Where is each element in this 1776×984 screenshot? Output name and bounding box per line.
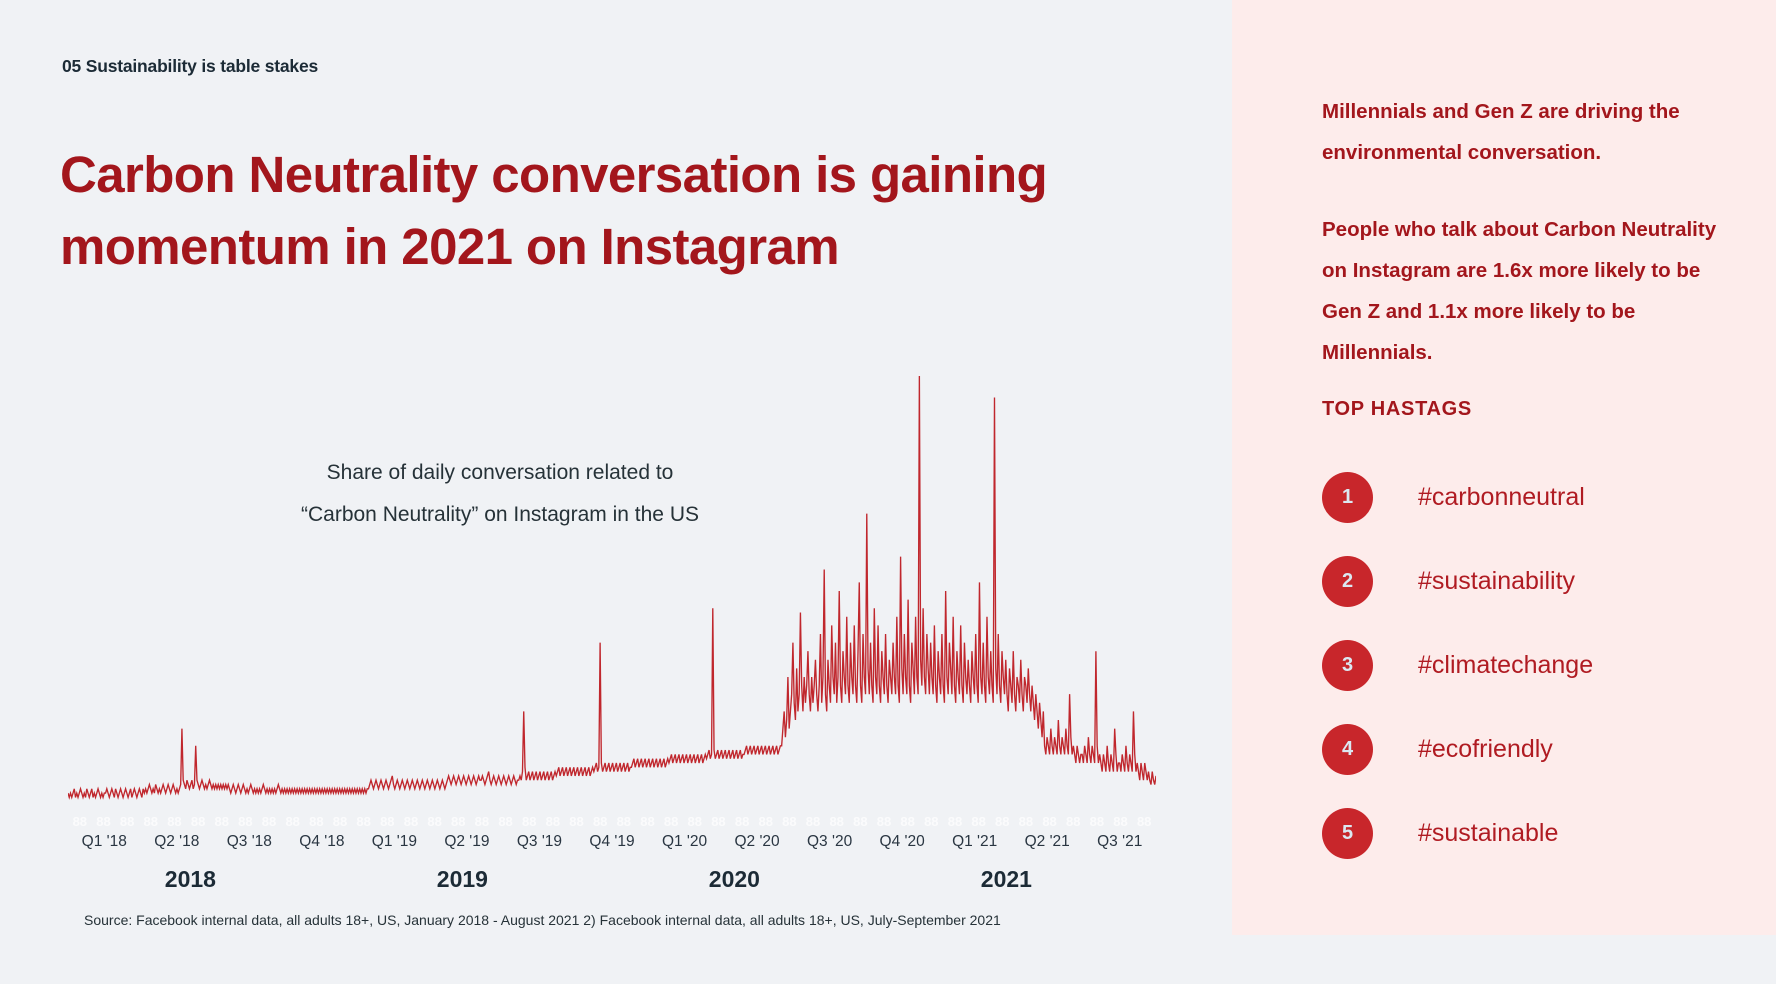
hashtag-row[interactable]: 2#sustainability (1322, 539, 1752, 623)
x-tick-label: Q3 '18 (227, 833, 272, 851)
faint-date-label: 88 (309, 814, 323, 829)
faint-date-label: 88 (829, 814, 843, 829)
x-tick-label: Q1 '18 (82, 833, 127, 851)
x-tick-label: Q3 '21 (1097, 833, 1142, 851)
rank-badge: 5 (1322, 808, 1373, 859)
faint-date-label: 88 (759, 814, 773, 829)
faint-date-label: 88 (1066, 814, 1080, 829)
faint-date-label: 88 (120, 814, 134, 829)
hashtag-label: #ecofriendly (1418, 735, 1553, 764)
faint-date-label: 88 (191, 814, 205, 829)
x-year-label: 2021 (981, 866, 1032, 893)
x-tick-label: Q2 '21 (1025, 833, 1070, 851)
faint-date-label: 88 (380, 814, 394, 829)
faint-date-label: 88 (688, 814, 702, 829)
top-hashtags-heading: TOP HASTAGS (1322, 398, 1472, 421)
hashtag-row[interactable]: 1#carbonneutral (1322, 455, 1752, 539)
faint-date-label: 88 (664, 814, 678, 829)
hashtag-label: #carbonneutral (1418, 483, 1585, 512)
hashtag-row[interactable]: 4#ecofriendly (1322, 707, 1752, 791)
x-axis-tick-labels: Q1 '18Q2 '18Q3 '18Q4 '18Q1 '19Q2 '19Q3 '… (68, 833, 1156, 857)
hashtag-row[interactable]: 5#sustainable (1322, 791, 1752, 875)
rank-badge: 2 (1322, 556, 1373, 607)
insight-paragraph-1: Millennials and Gen Z are driving the en… (1322, 91, 1732, 173)
faint-date-label: 88 (404, 814, 418, 829)
faint-date-label: 88 (782, 814, 796, 829)
faint-date-label: 88 (96, 814, 110, 829)
faint-date-labels: 8888888888888888888888888888888888888888… (68, 808, 1156, 834)
faint-date-label: 88 (427, 814, 441, 829)
chart-svg (68, 370, 1156, 810)
faint-date-label: 88 (900, 814, 914, 829)
faint-date-label: 88 (167, 814, 181, 829)
rank-badge: 1 (1322, 472, 1373, 523)
top-hashtags-list: 1#carbonneutral2#sustainability3#climate… (1322, 455, 1752, 875)
insight-paragraph-2: People who talk about Carbon Neutrality … (1322, 209, 1732, 373)
faint-date-label: 88 (238, 814, 252, 829)
faint-date-label: 88 (877, 814, 891, 829)
left-content-pane: 05 Sustainability is table stakes Carbon… (0, 0, 1232, 984)
faint-date-label: 88 (475, 814, 489, 829)
faint-date-label: 88 (1090, 814, 1104, 829)
faint-date-label: 88 (569, 814, 583, 829)
faint-date-label: 88 (73, 814, 87, 829)
faint-date-label: 88 (711, 814, 725, 829)
x-tick-label: Q1 '21 (952, 833, 997, 851)
faint-date-label: 88 (995, 814, 1009, 829)
x-tick-label: Q1 '20 (662, 833, 707, 851)
x-tick-label: Q3 '19 (517, 833, 562, 851)
faint-date-label: 88 (1019, 814, 1033, 829)
x-tick-label: Q4 '18 (299, 833, 344, 851)
faint-date-label: 88 (522, 814, 536, 829)
x-tick-label: Q2 '19 (444, 833, 489, 851)
faint-date-label: 88 (144, 814, 158, 829)
faint-date-label: 88 (948, 814, 962, 829)
x-year-label: 2020 (709, 866, 760, 893)
hashtag-label: #sustainability (1418, 567, 1575, 596)
faint-date-label: 88 (333, 814, 347, 829)
faint-date-label: 88 (640, 814, 654, 829)
faint-date-label: 88 (356, 814, 370, 829)
x-tick-label: Q4 '20 (880, 833, 925, 851)
x-tick-label: Q3 '20 (807, 833, 852, 851)
faint-date-label: 88 (215, 814, 229, 829)
faint-date-label: 88 (806, 814, 820, 829)
faint-date-label: 88 (735, 814, 749, 829)
faint-date-label: 88 (1113, 814, 1127, 829)
x-year-label: 2019 (437, 866, 488, 893)
faint-date-label: 88 (924, 814, 938, 829)
faint-date-label: 88 (853, 814, 867, 829)
faint-date-label: 88 (1137, 814, 1151, 829)
source-footnote: Source: Facebook internal data, all adul… (84, 912, 1001, 928)
faint-date-label: 88 (546, 814, 560, 829)
x-tick-label: Q2 '20 (734, 833, 779, 851)
rank-badge: 3 (1322, 640, 1373, 691)
faint-date-label: 88 (617, 814, 631, 829)
faint-date-label: 88 (285, 814, 299, 829)
faint-date-label: 88 (1042, 814, 1056, 829)
x-tick-label: Q2 '18 (154, 833, 199, 851)
chart-line-series (68, 376, 1156, 797)
insights-panel: Millennials and Gen Z are driving the en… (1232, 0, 1776, 935)
faint-date-label: 88 (593, 814, 607, 829)
x-year-label: 2018 (165, 866, 216, 893)
hashtag-label: #climatechange (1418, 651, 1593, 680)
faint-date-label: 88 (451, 814, 465, 829)
faint-date-label: 88 (498, 814, 512, 829)
hashtag-row[interactable]: 3#climatechange (1322, 623, 1752, 707)
x-tick-label: Q1 '19 (372, 833, 417, 851)
faint-date-label: 88 (971, 814, 985, 829)
faint-date-label: 88 (262, 814, 276, 829)
hashtag-label: #sustainable (1418, 819, 1558, 848)
rank-badge: 4 (1322, 724, 1373, 775)
x-tick-label: Q4 '19 (589, 833, 634, 851)
slide-canvas: 05 Sustainability is table stakes Carbon… (0, 0, 1776, 984)
line-chart-plot (68, 370, 1156, 810)
chart-block: Share of daily conversation related to “… (0, 0, 1232, 984)
x-axis-year-labels: 2018201920202021 (68, 866, 1156, 898)
